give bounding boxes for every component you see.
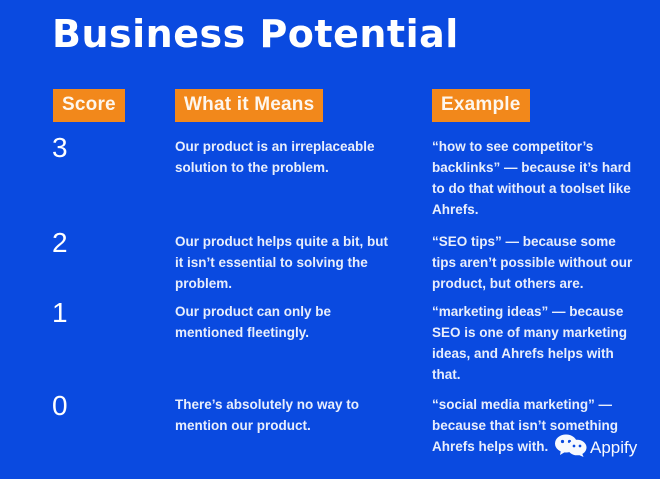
column-header-score: Score [53,89,125,122]
meaning-text: Our product helps quite a bit, but it is… [175,231,390,294]
slide-canvas: Business Potential Score What it Means E… [0,0,660,479]
example-text: “how to see competitor’s backlinks” — be… [432,136,638,220]
meaning-text: Our product is an irreplaceable solution… [175,136,390,178]
score-value: 3 [52,131,112,165]
page-title: Business Potential [52,12,459,56]
column-header-what-it-means: What it Means [175,89,323,122]
score-value: 2 [52,226,112,260]
example-text: “SEO tips” — because some tips aren’t po… [432,231,638,294]
column-header-example: Example [432,89,530,122]
wechat-icon [554,433,588,462]
meaning-text: Our product can only be mentioned fleeti… [175,301,390,343]
example-text: “marketing ideas” — because SEO is one o… [432,301,638,385]
meaning-text: There’s absolutely no way to mention our… [175,394,390,436]
watermark: Appify [554,433,637,462]
watermark-label: Appify [590,438,637,458]
score-value: 1 [52,296,112,330]
score-value: 0 [52,389,112,423]
